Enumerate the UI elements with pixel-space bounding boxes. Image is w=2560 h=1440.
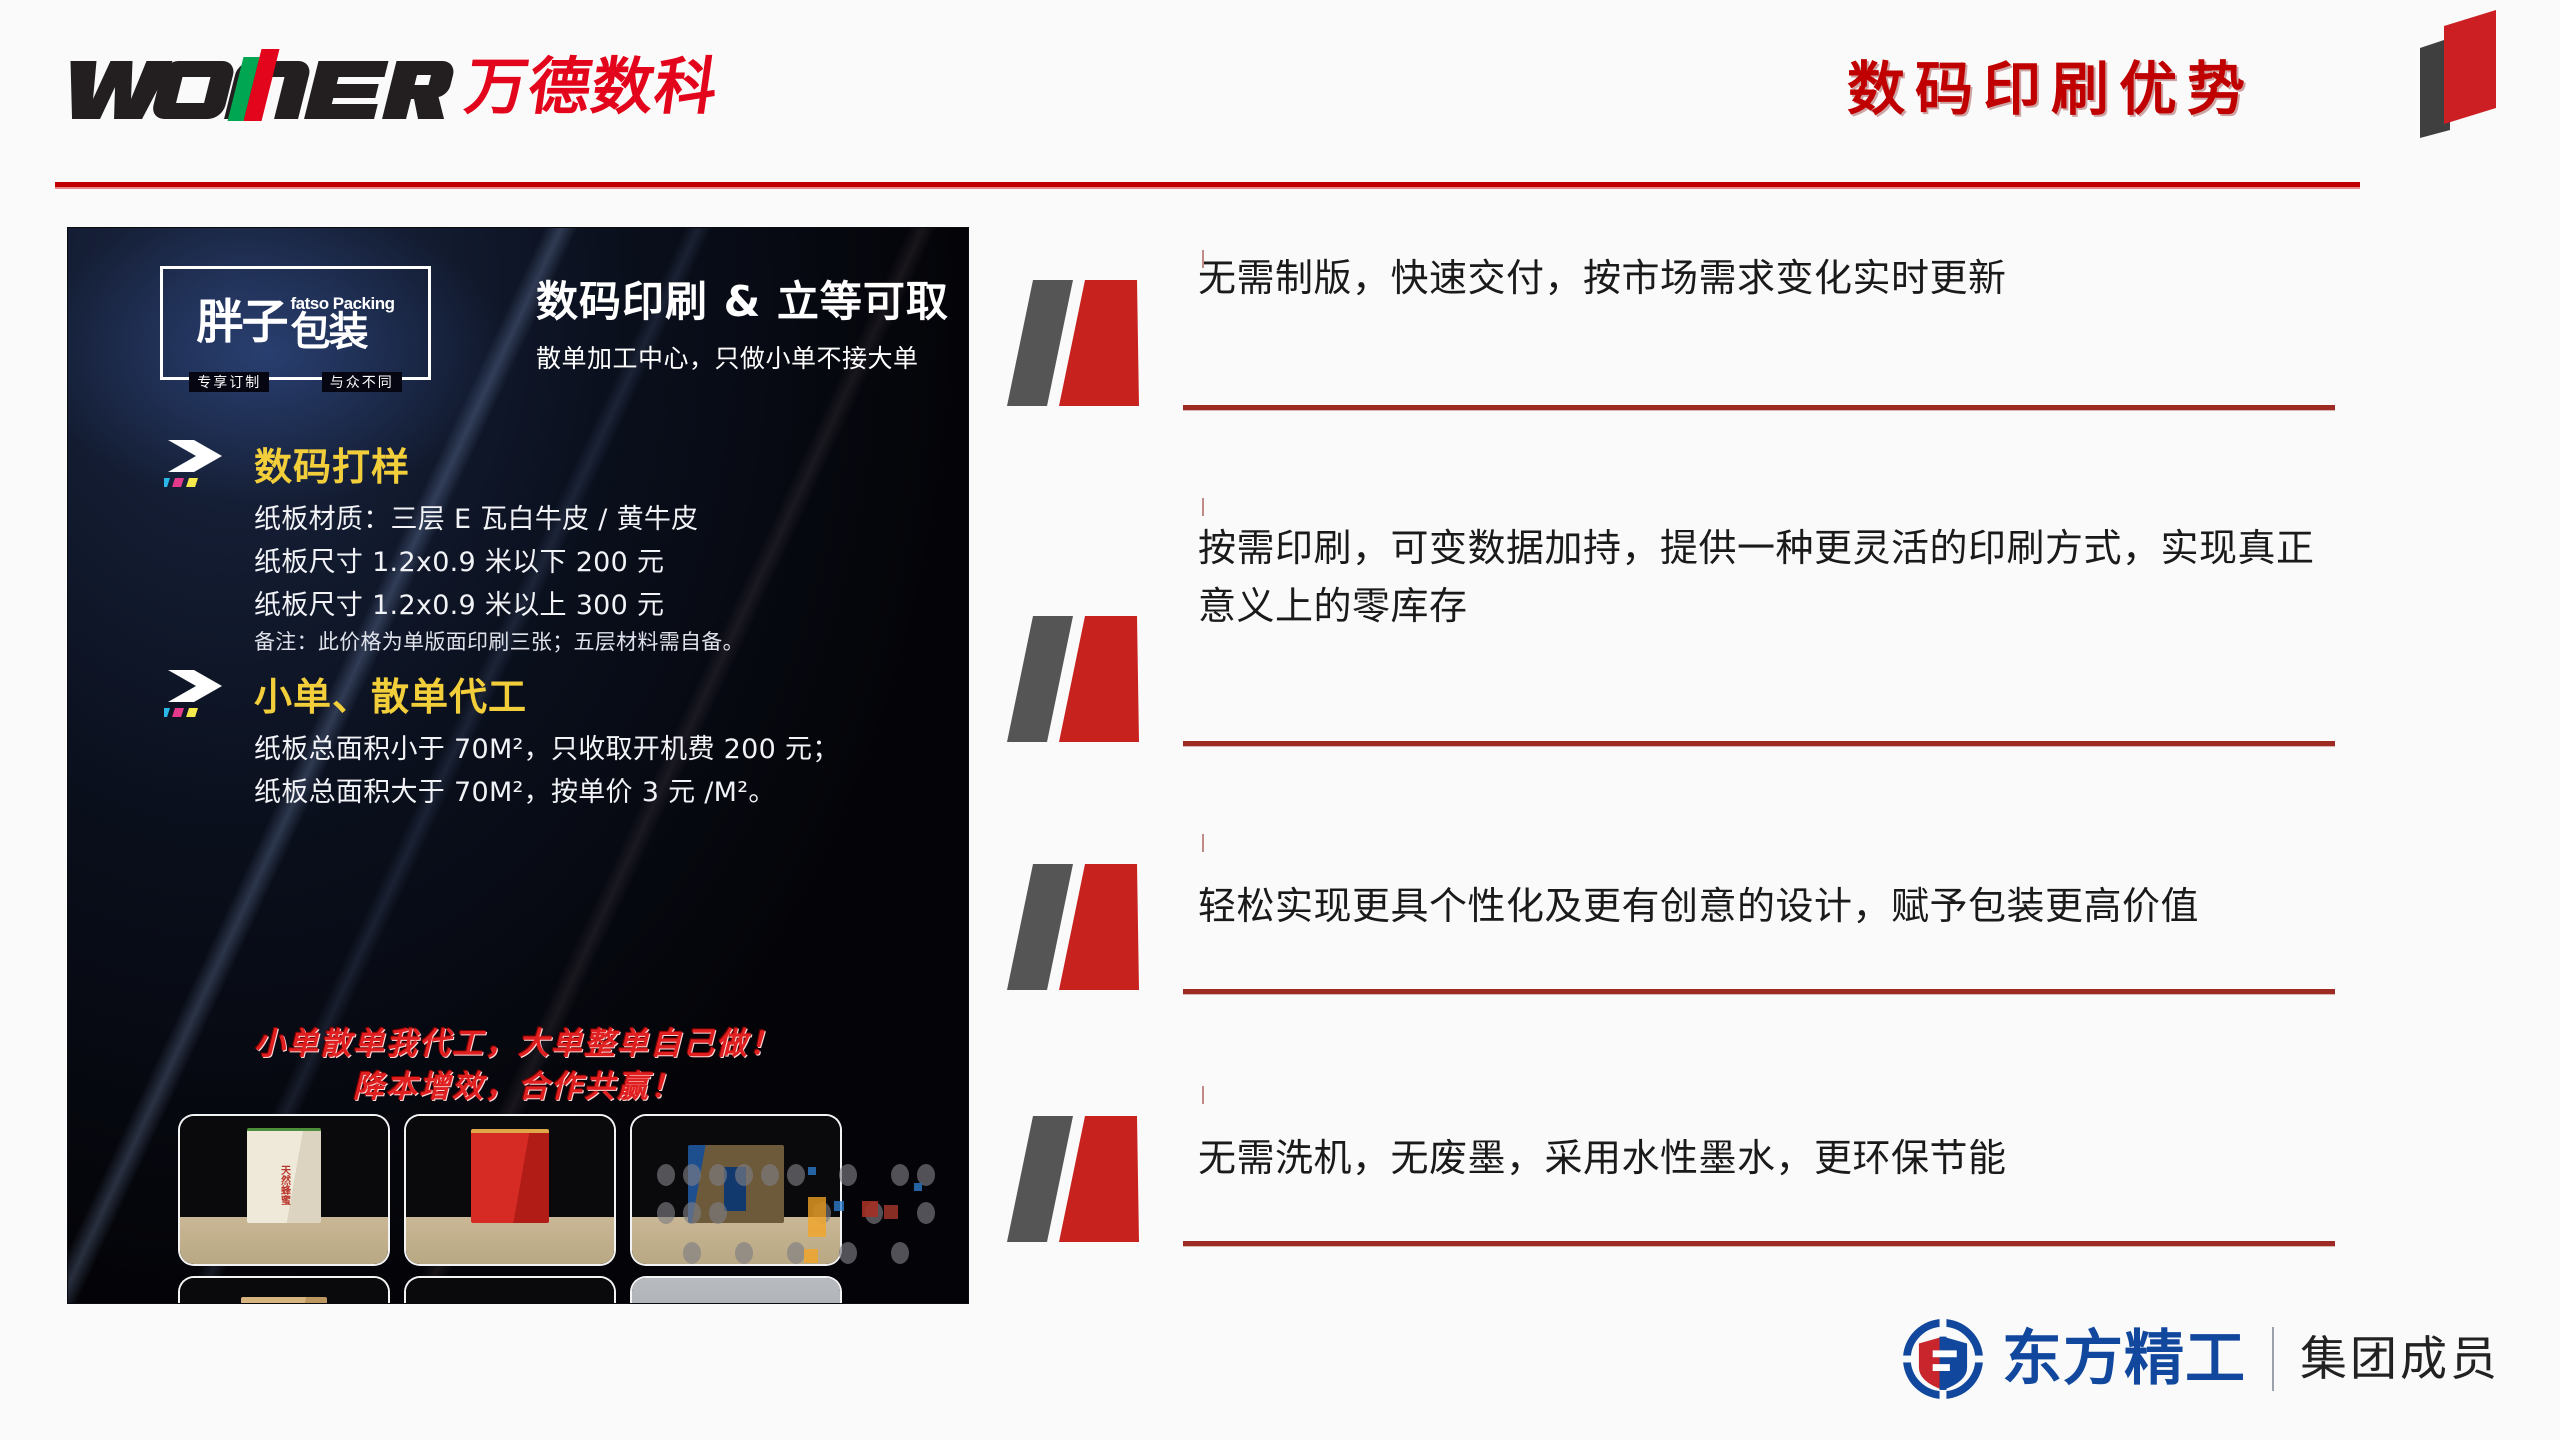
product-photo-classic-kraft-box: [406, 1278, 614, 1303]
tick-mark: [1202, 1086, 1204, 1104]
product-photo-kraft-gift-box: [180, 1278, 388, 1303]
section-line: 纸板总面积大于 70M²，按单价 3 元 /M²。: [254, 770, 936, 809]
advantage-underline: [1183, 405, 2335, 410]
advantages-list: 无需制版，快速交付，按市场需求变化实时更新 按需印刷，可变数据加持，提供一种更灵…: [1005, 250, 2335, 1246]
company-name-label: 东方精工: [2002, 1329, 2246, 1389]
tick-mark: [1202, 250, 1204, 268]
double-slash-marker-icon: [1005, 616, 1185, 746]
advantage-underline: [1183, 741, 2335, 746]
poster-slogan: 小单散单我代工，大单整单自己做！ 降本增效，合作共赢！: [68, 1023, 968, 1109]
advantage-underline: [1183, 1241, 2335, 1246]
section-note: 备注：此价格为单版面印刷三张；五层材料需自备。: [254, 626, 936, 656]
group-member-label: 集团成员: [2300, 1336, 2500, 1383]
section-line: 纸板总面积小于 70M²，只收取开机费 200 元；: [254, 727, 936, 766]
section-line: 纸板尺寸 1.2x0.9 米以上 300 元: [254, 583, 936, 622]
advantage-item-3: 轻松实现更具个性化及更有创意的设计，赋予包装更高价值: [1005, 834, 2335, 994]
fatso-brand-cn: 胖子: [196, 301, 286, 346]
advantage-text: 按需印刷，可变数据加持，提供一种更灵活的印刷方式，实现真正意义上的零库存: [1198, 498, 2335, 650]
advantage-text: 轻松实现更具个性化及更有创意的设计，赋予包装更高价值: [1198, 834, 2335, 950]
section-title: 小单、散单代工: [254, 666, 936, 721]
chevron-arrow-icon: [164, 668, 234, 722]
product-photo-red-food-gift-box: [406, 1116, 614, 1264]
group-member-logo: 东方精工 集团成员: [1900, 1316, 2500, 1402]
corner-decoration-icon: [2392, 8, 2512, 138]
poster-section-oem: 小单、散单代工 纸板总面积小于 70M²，只收取开机费 200 元； 纸板总面积…: [176, 666, 936, 813]
poster-headline: 数码印刷 & 立等可取: [536, 268, 936, 329]
double-slash-marker-icon: [1005, 280, 1185, 410]
tick-mark: [1202, 498, 1204, 516]
dongfang-jinggong-logo-icon: [1900, 1316, 1986, 1402]
header-divider: [55, 182, 2360, 187]
double-slash-marker-icon: [1005, 1116, 1185, 1246]
slogan-line-1: 小单散单我代工，大单整单自己做！: [68, 1023, 968, 1066]
promo-poster-image: 胖子 fatso Packing 包装 专享订制 与众不同 数码印刷 & 立等可…: [68, 228, 968, 1303]
advantage-underline: [1183, 989, 2335, 994]
advantage-text: 无需洗机，无废墨，采用水性墨水，更环保节能: [1198, 1086, 2335, 1202]
tick-mark: [1202, 834, 1204, 852]
fatso-tag-right: 与众不同: [322, 372, 402, 392]
advantage-item-2: 按需印刷，可变数据加持，提供一种更灵活的印刷方式，实现真正意义上的零库存: [1005, 498, 2335, 746]
section-line: 纸板材质：三层 E 瓦白牛皮 / 黄牛皮: [254, 497, 936, 536]
footer-divider: [2272, 1327, 2274, 1391]
slide-root: 万德数科 数码印刷优势 胖子 fatso Packing 包装 专享订制 与众不…: [0, 0, 2560, 1440]
fatso-tag-left: 专享订制: [189, 372, 269, 392]
dot-pattern-decoration-icon: [648, 1153, 968, 1303]
page-title: 数码印刷优势: [1847, 42, 2255, 126]
poster-headline-group: 数码印刷 & 立等可取 散单加工中心，只做小单不接大单: [536, 268, 936, 375]
fatso-brand-cn2: 包装: [290, 313, 366, 351]
section-line: 纸板尺寸 1.2x0.9 米以下 200 元: [254, 540, 936, 579]
advantage-item-4: 无需洗机，无废墨，采用水性墨水，更环保节能: [1005, 1086, 2335, 1246]
slogan-line-2: 降本增效，合作共赢！: [68, 1066, 968, 1109]
advantage-text: 无需制版，快速交付，按市场需求变化实时更新: [1198, 250, 2335, 322]
fatso-brand-box: 胖子 fatso Packing 包装 专享订制 与众不同: [160, 266, 431, 380]
chevron-arrow-icon: [164, 438, 234, 492]
double-slash-marker-icon: [1005, 864, 1185, 994]
poster-subheadline: 散单加工中心，只做小单不接大单: [536, 339, 936, 375]
brand-cn-label: 万德数科: [462, 56, 723, 118]
wonder-logo: 万德数科: [60, 48, 718, 126]
wonder-wordmark-icon: [60, 47, 460, 127]
poster-section-proofing: 数码打样 纸板材质：三层 E 瓦白牛皮 / 黄牛皮 纸板尺寸 1.2x0.9 米…: [176, 436, 936, 660]
product-photo-honey-gift-box: 天然蜂蜜: [180, 1116, 388, 1264]
advantage-item-1: 无需制版，快速交付，按市场需求变化实时更新: [1005, 250, 2335, 410]
section-title: 数码打样: [254, 436, 936, 491]
